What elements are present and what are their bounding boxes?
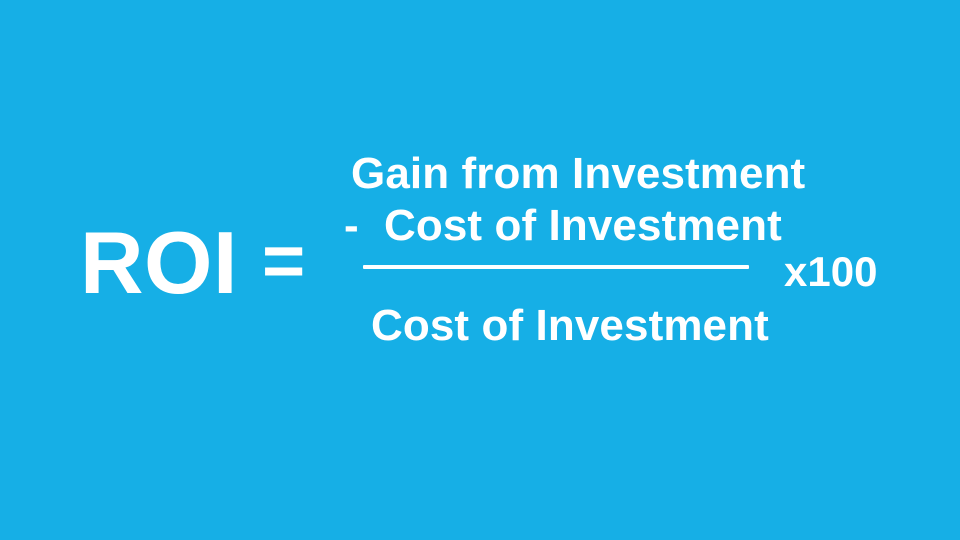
numerator-line-1: Gain from Investment: [351, 152, 805, 196]
fraction-block: Gain from Investment -Cost of Investment…: [340, 140, 772, 355]
minus-sign: -: [344, 204, 384, 248]
equals-sign: =: [262, 224, 305, 298]
roi-formula-slide: ROI = Gain from Investment -Cost of Inve…: [0, 0, 960, 540]
numerator-line-2: -Cost of Investment: [344, 204, 782, 248]
denominator-line: Cost of Investment: [371, 304, 769, 348]
numerator-line-2-text: Cost of Investment: [384, 201, 782, 250]
fraction-bar: [363, 265, 749, 269]
multiplier-x100: x100: [784, 251, 877, 293]
formula-label-roi: ROI: [80, 219, 238, 307]
